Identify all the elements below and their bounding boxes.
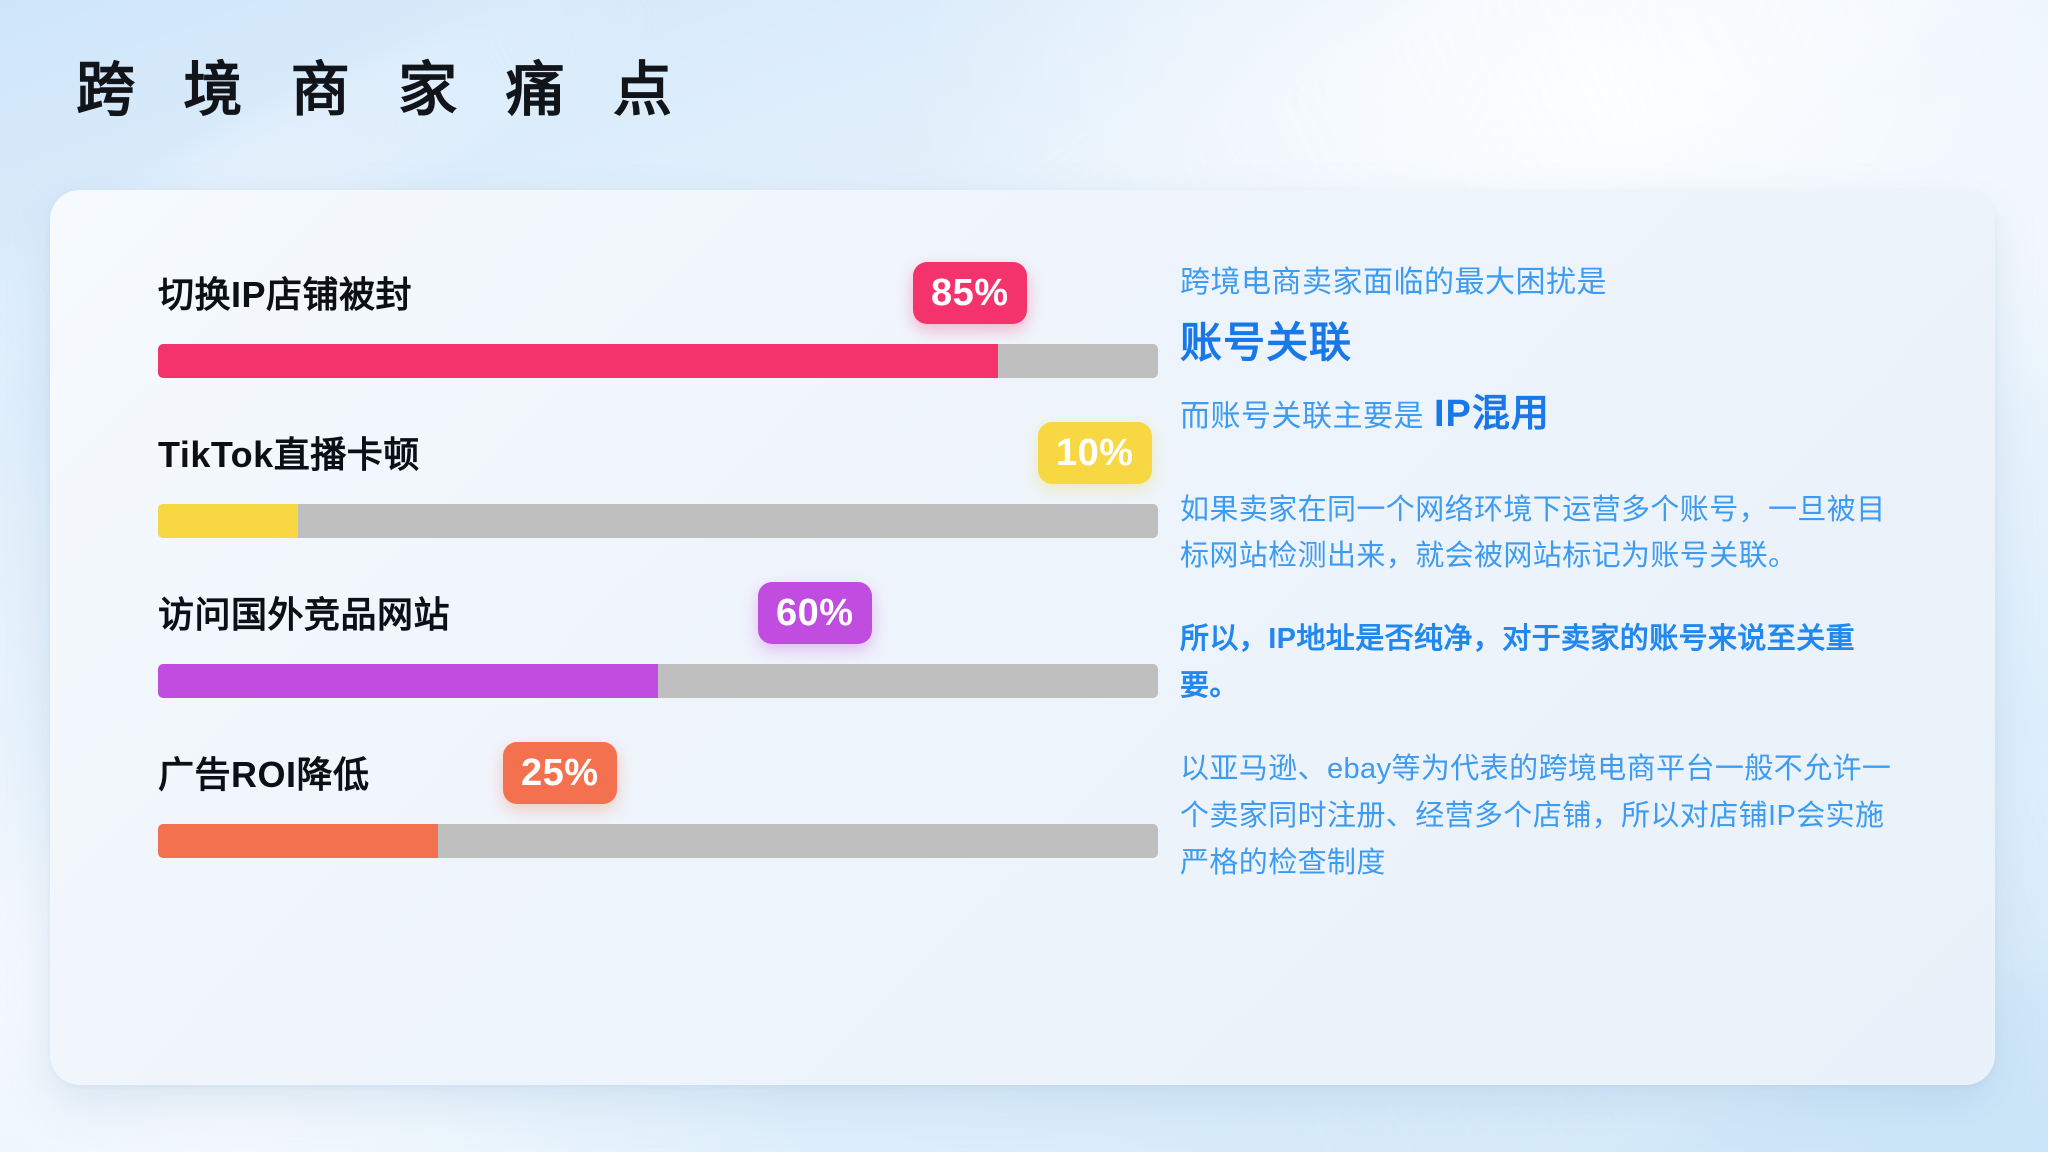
bar-value-badge: 85% [913, 262, 1027, 324]
bar-chart-pane: 切换IP店铺被封85%TikTok直播卡顿10%访问国外竞品网站60%广告ROI… [50, 190, 1180, 1085]
paragraph-1: 如果卖家在同一个网络环境下运营多个账号，一旦被目标网站检测出来，就会被网站标记为… [1180, 487, 1910, 581]
highlight-term: 账号关联 [1180, 317, 1920, 370]
bar-fill [158, 344, 998, 378]
secondary-lead-strong: IP混用 [1434, 393, 1550, 435]
bar-label: 访问国外竞品网站 [158, 586, 450, 638]
secondary-lead-text: 而账号关联主要是IP混用 [1180, 386, 1920, 443]
lead-text: 跨境电商卖家面临的最大困扰是 [1180, 260, 1920, 305]
explanation-pane: 跨境电商卖家面临的最大困扰是 账号关联 而账号关联主要是IP混用 如果卖家在同一… [1180, 190, 1995, 1085]
page-title: 跨 境 商 家 痛 点 [76, 58, 688, 123]
bar-header: 切换IP店铺被封85% [108, 250, 1158, 322]
slide-root: 跨 境 商 家 痛 点 切换IP店铺被封85%TikTok直播卡顿10%访问国外… [0, 0, 2048, 1152]
bar-label: 切换IP店铺被封 [158, 266, 412, 318]
content-card: 切换IP店铺被封85%TikTok直播卡顿10%访问国外竞品网站60%广告ROI… [50, 190, 1995, 1085]
secondary-lead-prefix: 而账号关联主要是 [1180, 400, 1424, 433]
paragraph-2: 所以，IP地址是否纯净，对于卖家的账号来说至关重要。 [1180, 616, 1910, 710]
bar-value-badge: 60% [758, 582, 872, 644]
bar-track [158, 824, 1158, 858]
bar-row: 切换IP店铺被封85% [108, 250, 1158, 378]
bar-track [158, 344, 1158, 378]
bar-row: TikTok直播卡顿10% [108, 410, 1158, 538]
bar-value-badge: 10% [1038, 422, 1152, 484]
bar-track [158, 664, 1158, 698]
bar-header: 广告ROI降低25% [108, 730, 1158, 802]
paragraph-3: 以亚马逊、ebay等为代表的跨境电商平台一般不允许一个卖家同时注册、经营多个店铺… [1180, 746, 1910, 887]
bar-fill [158, 664, 658, 698]
bar-header: 访问国外竞品网站60% [108, 570, 1158, 642]
bar-row: 访问国外竞品网站60% [108, 570, 1158, 698]
bar-fill [158, 504, 298, 538]
bar-row: 广告ROI降低25% [108, 730, 1158, 858]
bar-value-badge: 25% [503, 742, 617, 804]
bar-fill [158, 824, 438, 858]
bar-header: TikTok直播卡顿10% [108, 410, 1158, 482]
bar-track [158, 504, 1158, 538]
bar-label: 广告ROI降低 [158, 746, 370, 798]
bar-label: TikTok直播卡顿 [158, 426, 420, 478]
